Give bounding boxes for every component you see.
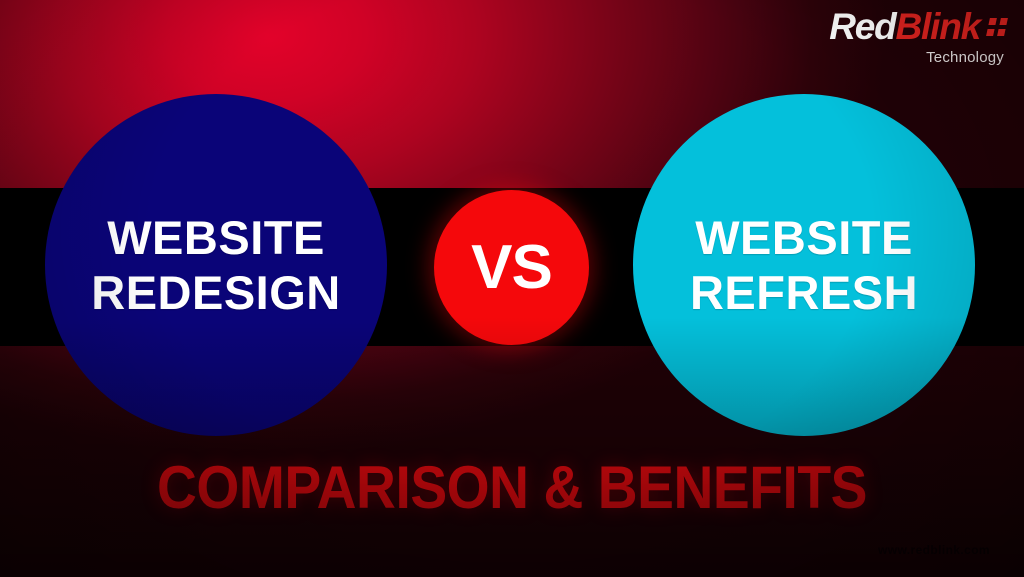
redblink-logo[interactable]: RedBlink Technology [829, 8, 1006, 65]
option-card-website-redesign[interactable]: WEBSITE REDESIGN [45, 94, 387, 436]
watermark-url: www.redblink.com [878, 543, 990, 557]
page-title: COMPARISON & BENEFITS [41, 458, 983, 518]
logo-word-red: Red [829, 8, 895, 45]
option-card-website-refresh[interactable]: WEBSITE REFRESH [633, 94, 975, 436]
logo-dots-icon [986, 18, 1008, 36]
logo-wordmark: RedBlink [829, 8, 1006, 45]
logo-word-blink: Blink [896, 8, 980, 45]
option-left-line1: WEBSITE [107, 210, 325, 265]
versus-badge: VS [434, 190, 589, 345]
logo-tagline: Technology [829, 50, 1004, 65]
comparison-graphic: WEBSITE REDESIGN WEBSITE REFRESH VS COMP… [0, 0, 1024, 577]
option-left-line2: REDESIGN [91, 265, 341, 320]
versus-label: VS [471, 237, 552, 299]
option-right-line2: REFRESH [690, 265, 918, 320]
option-right-line1: WEBSITE [695, 210, 913, 265]
